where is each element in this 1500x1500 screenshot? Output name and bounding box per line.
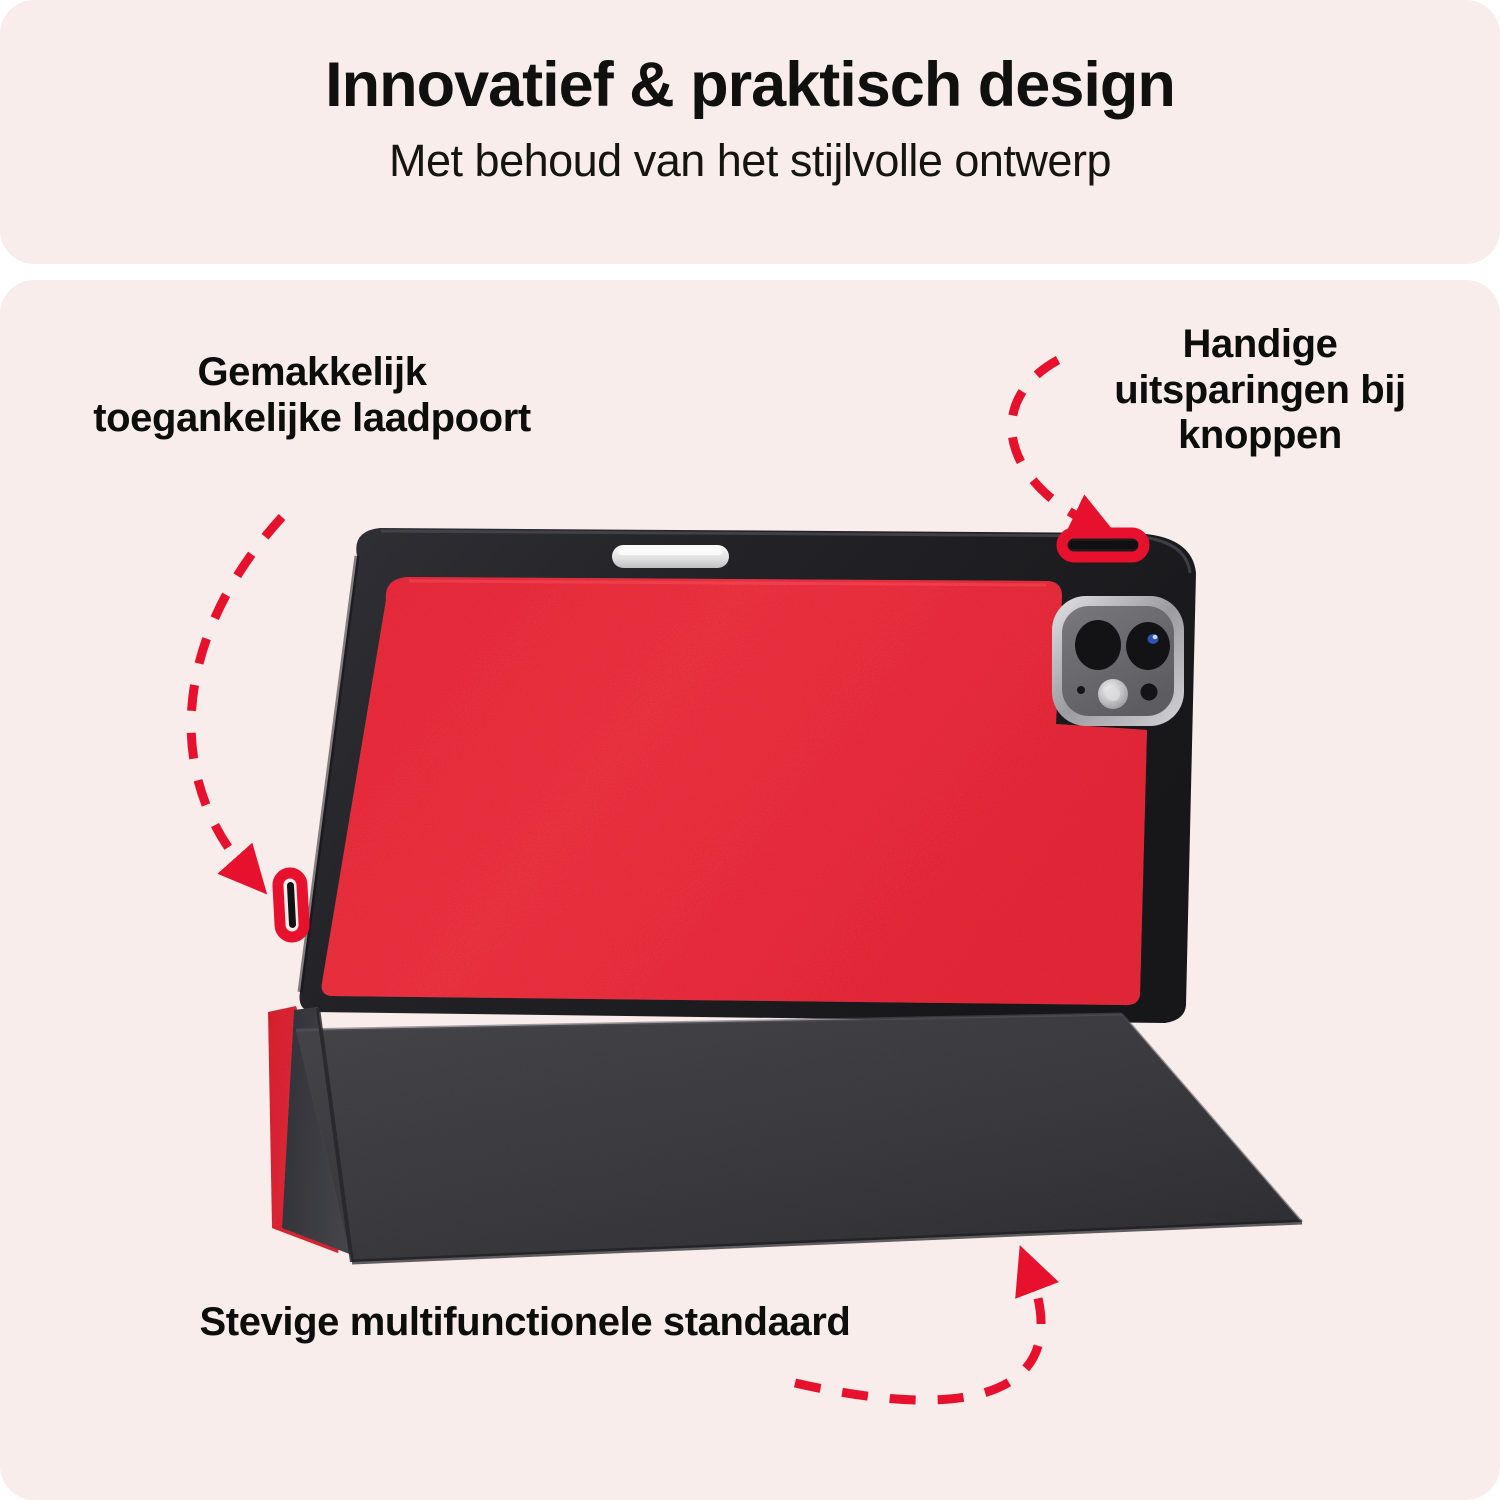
- folding-stand: [268, 1006, 1302, 1262]
- camera-mic-dot: [1077, 686, 1085, 694]
- arrow-stand: [795, 1272, 1041, 1400]
- product-illustration: [0, 0, 1500, 1500]
- camera-module: [1052, 596, 1184, 726]
- pencil-holder: [612, 545, 729, 568]
- arrow-charging-port: [191, 517, 282, 873]
- button-cutout: [1062, 533, 1144, 557]
- camera-lens-primary: [1075, 620, 1121, 670]
- camera-lens-secondary: [1126, 622, 1170, 670]
- camera-sensor-dot: [1141, 684, 1158, 701]
- infographic-canvas: Innovatief & praktisch design Met behoud…: [0, 0, 1500, 1500]
- tablet-back-panel: [322, 577, 1147, 1005]
- charging-port-cutout: [277, 872, 304, 937]
- arrow-button-cutouts: [1012, 360, 1092, 524]
